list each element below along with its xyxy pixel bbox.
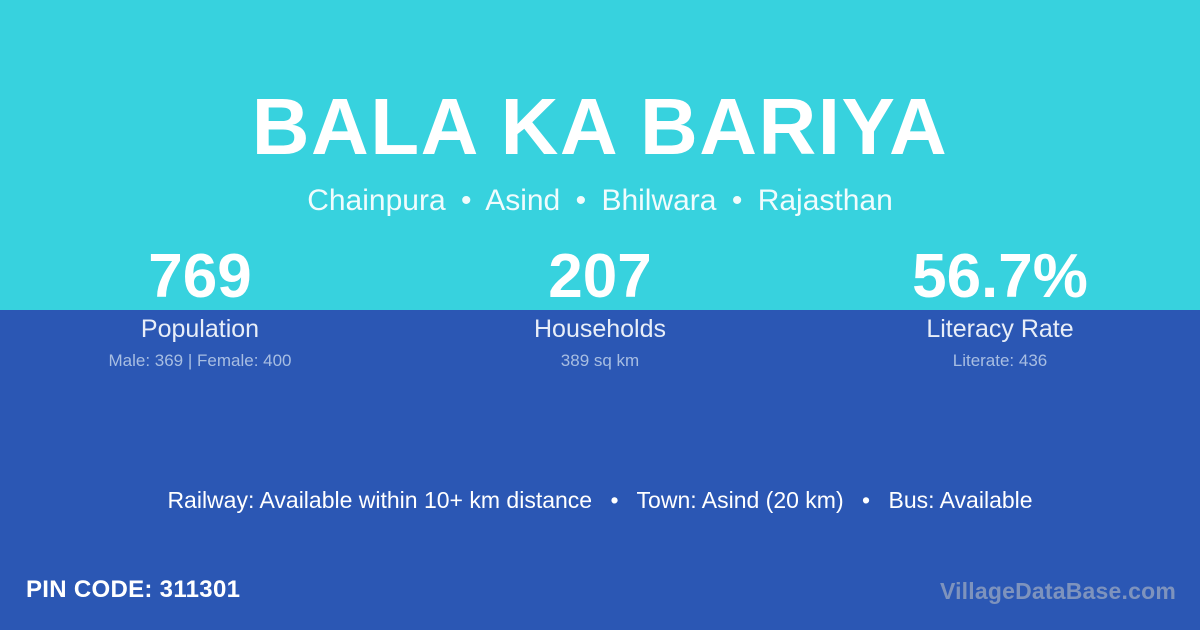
- transport-item-railway: Railway: Available within 10+ km distanc…: [167, 487, 592, 513]
- breadcrumb-item-district: Bhilwara: [601, 184, 716, 217]
- breadcrumb-separator: •: [569, 184, 594, 217]
- stat-value: 56.7%: [800, 243, 1200, 311]
- breadcrumb: Chainpura • Asind • Bhilwara • Rajasthan: [0, 174, 1200, 219]
- stat-value: 207: [400, 243, 800, 311]
- stat-label: Literacy Rate: [800, 314, 1200, 344]
- stat-detail: Male: 369 | Female: 400: [0, 350, 400, 371]
- breadcrumb-separator: •: [725, 184, 750, 217]
- stat-label: Population: [0, 314, 400, 344]
- transport-item-town: Town: Asind (20 km): [637, 487, 844, 513]
- stat-detail: Literate: 436: [800, 350, 1200, 371]
- site-brand: VillageDataBase.com: [940, 575, 1176, 607]
- breadcrumb-item-village: Chainpura: [307, 184, 445, 217]
- statistics-row: 769 Population Male: 369 | Female: 400 2…: [0, 243, 1200, 371]
- breadcrumb-separator: •: [454, 184, 479, 217]
- transport-item-bus: Bus: Available: [888, 487, 1032, 513]
- pin-code: PIN CODE: 311301: [26, 574, 240, 606]
- stat-detail: 389 sq km: [400, 350, 800, 371]
- card-footer: PIN CODE: 311301 VillageDataBase.com: [0, 574, 1200, 614]
- breadcrumb-item-block: Asind: [485, 184, 560, 217]
- stat-population: 769 Population Male: 369 | Female: 400: [0, 243, 400, 371]
- page-title: BALA KA BARIYA: [0, 0, 1200, 174]
- card-header: BALA KA BARIYA Chainpura • Asind • Bhilw…: [0, 0, 1200, 219]
- transport-separator: •: [599, 487, 631, 513]
- stat-households: 207 Households 389 sq km: [400, 243, 800, 371]
- transport-separator: •: [850, 487, 882, 513]
- village-info-card: BALA KA BARIYA Chainpura • Asind • Bhilw…: [0, 0, 1200, 630]
- stat-label: Households: [400, 314, 800, 344]
- breadcrumb-item-state: Rajasthan: [758, 184, 893, 217]
- transport-info: Railway: Available within 10+ km distanc…: [0, 484, 1200, 516]
- stat-literacy-rate: 56.7% Literacy Rate Literate: 436: [800, 243, 1200, 371]
- stat-value: 769: [0, 243, 400, 311]
